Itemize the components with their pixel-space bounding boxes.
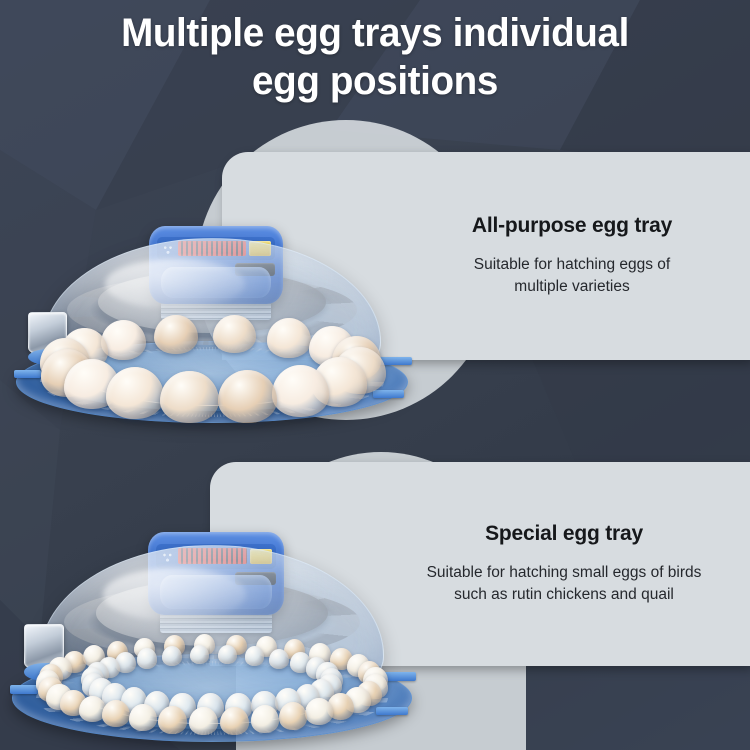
egg [279, 702, 307, 730]
card-title-special: Special egg tray [485, 522, 643, 546]
egg [129, 704, 157, 732]
card-desc-line-2: such as rutin chickens and quail [427, 584, 702, 606]
card-desc-line-2: multiple varieties [474, 276, 670, 298]
egg [137, 648, 157, 668]
card-title-all-purpose: All-purpose egg tray [472, 214, 672, 238]
egg [162, 646, 182, 666]
product-image-incubator-all-purpose [16, 222, 408, 427]
egg [154, 315, 198, 354]
egg [220, 707, 249, 735]
title-line-2: egg positions [40, 58, 710, 106]
title-line-1: Multiple egg trays individual [40, 10, 710, 58]
dome-highlight [103, 568, 247, 621]
product-banner: Multiple egg trays individual egg positi… [0, 0, 750, 750]
egg [158, 706, 187, 734]
product-image-incubator-special [12, 528, 412, 746]
card-desc-line-1: Suitable for hatching eggs of [474, 254, 670, 276]
egg [189, 707, 218, 735]
egg [305, 698, 333, 725]
egg [213, 315, 256, 354]
egg [267, 318, 312, 358]
card-desc-line-1: Suitable for hatching small eggs of bird… [427, 562, 702, 584]
egg [218, 645, 238, 665]
egg [269, 649, 289, 669]
egg [102, 700, 130, 727]
egg [251, 705, 279, 733]
egg [190, 645, 210, 665]
dome-highlight [105, 259, 246, 309]
egg [272, 365, 330, 416]
page-title: Multiple egg trays individual egg positi… [0, 10, 750, 105]
egg [245, 646, 265, 666]
